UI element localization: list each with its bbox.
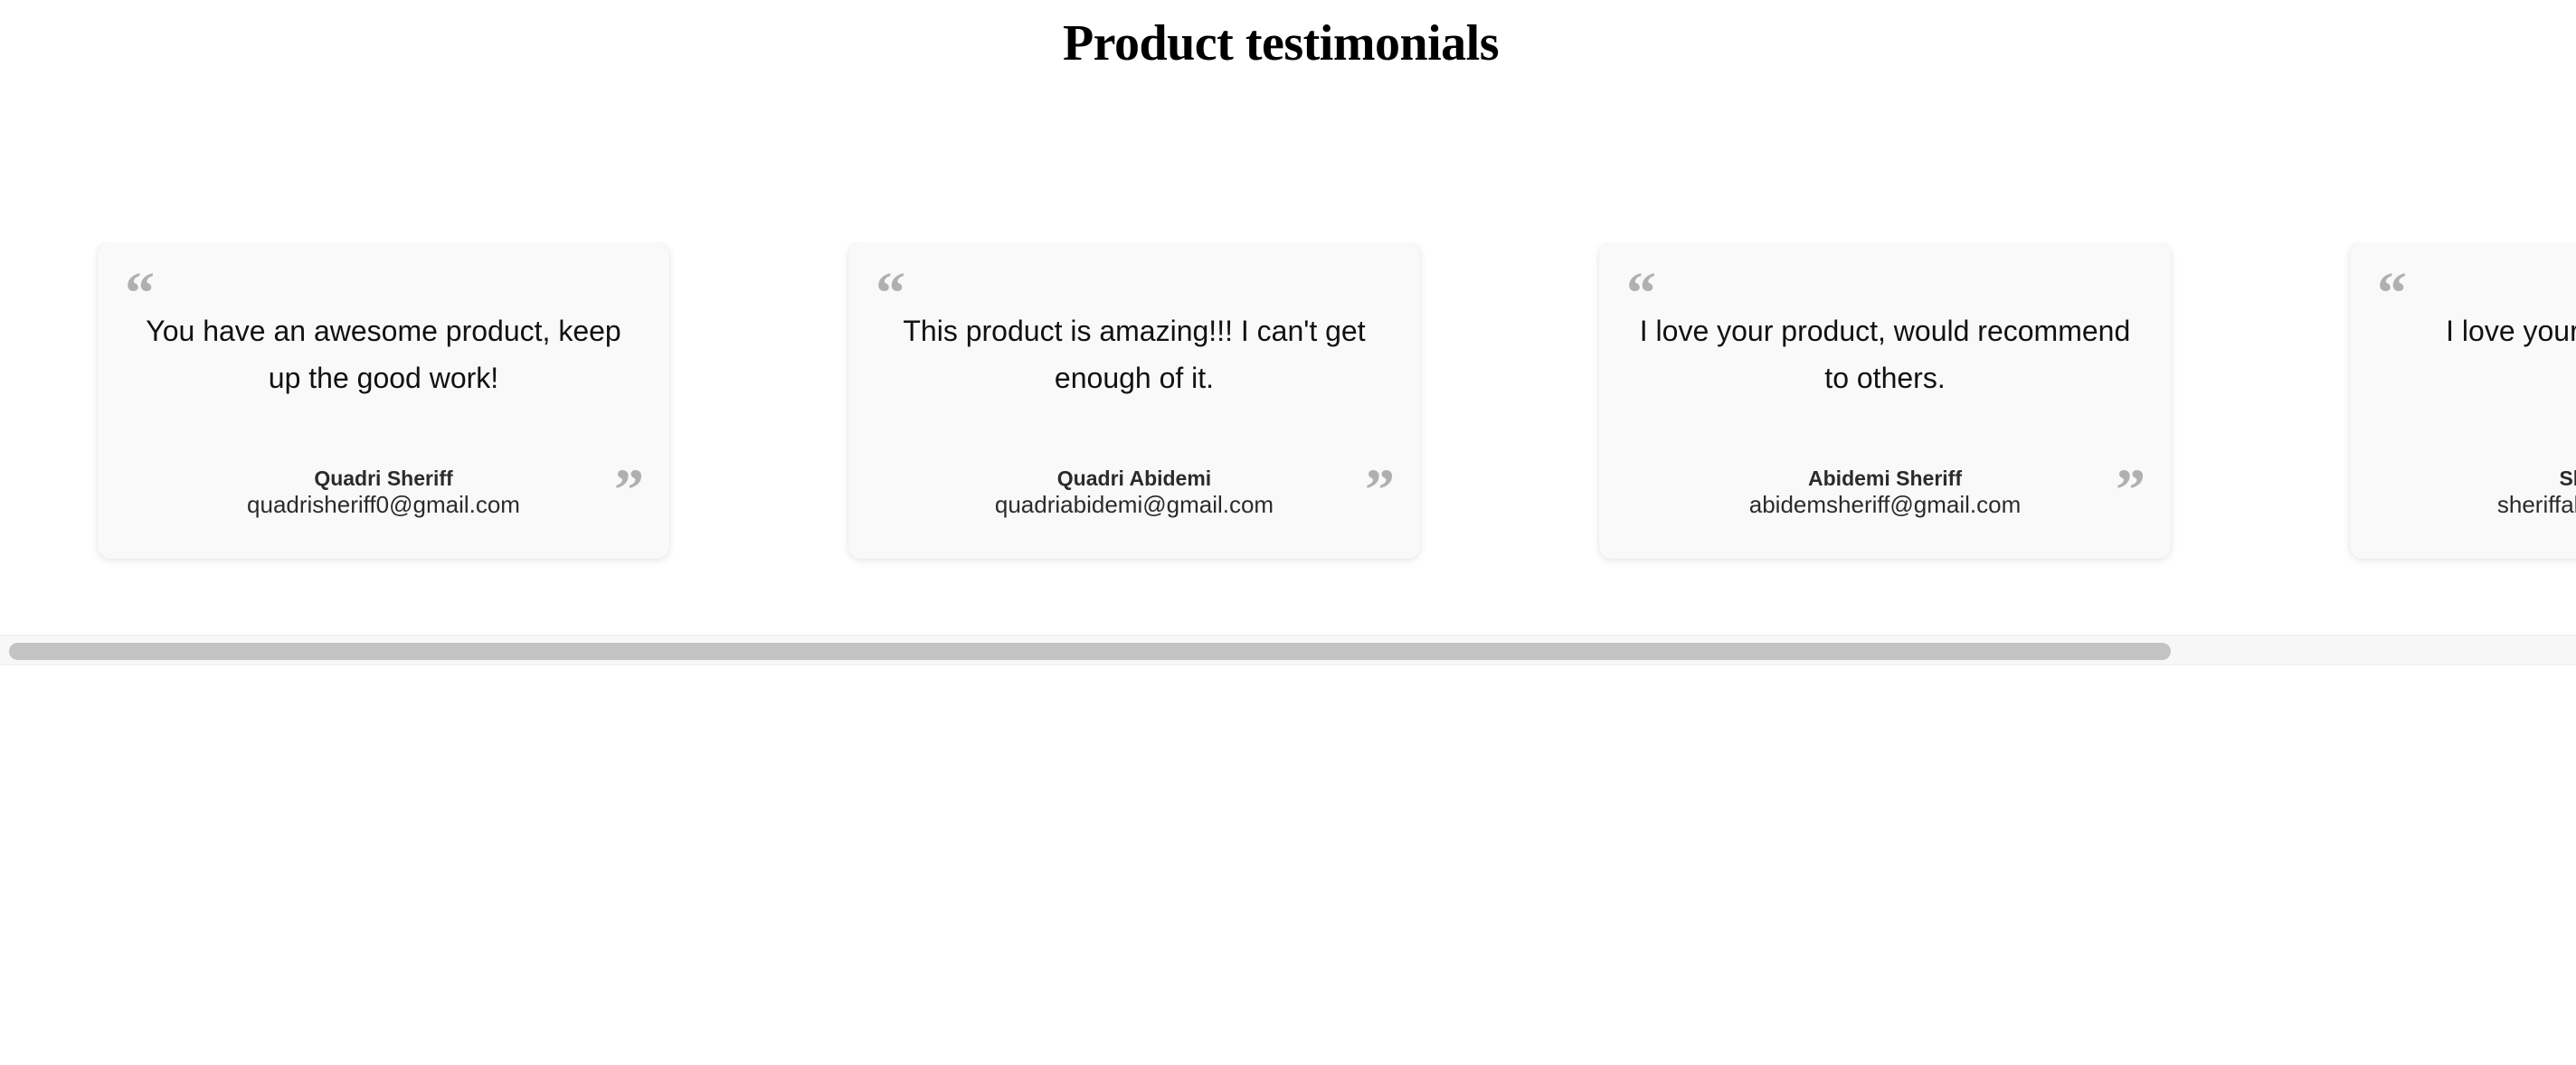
page-title: Product testimonials bbox=[0, 0, 2569, 71]
testimonial-card[interactable]: “ This product is amazing!!! I can't get… bbox=[848, 242, 1420, 559]
testimonial-card[interactable]: “ I love your product, it is great. ” Sh… bbox=[2350, 242, 2576, 559]
author-name: Sheriff Abidemi bbox=[2350, 467, 2576, 491]
horizontal-scrollbar[interactable] bbox=[0, 633, 2576, 667]
scrollbar-track[interactable] bbox=[0, 635, 2576, 665]
testimonial-card[interactable]: “ I love your product, would recommend t… bbox=[1599, 242, 2171, 559]
author-email: quadrisheriff0@gmail.com bbox=[98, 491, 669, 518]
testimonial-quote: I love your product, would recommend to … bbox=[1630, 307, 2140, 401]
testimonial-author: Sheriff Abidemi sheriffabidemi@gmail.com bbox=[2350, 467, 2576, 518]
author-email: sheriffabidemi@gmail.com bbox=[2350, 491, 2576, 518]
testimonial-quote: This product is amazing!!! I can't get e… bbox=[879, 307, 1389, 401]
author-name: Abidemi Sheriff bbox=[1599, 467, 2171, 491]
author-email: quadriabidemi@gmail.com bbox=[848, 491, 1420, 518]
testimonial-card[interactable]: “ You have an awesome product, keep up t… bbox=[98, 242, 669, 559]
testimonial-quote: I love your product, it is great. bbox=[2381, 307, 2576, 354]
scrollbar-thumb[interactable] bbox=[9, 643, 2171, 660]
author-name: Quadri Abidemi bbox=[848, 467, 1420, 491]
testimonial-author: Quadri Abidemi quadriabidemi@gmail.com bbox=[848, 467, 1420, 518]
testimonial-author: Abidemi Sheriff abidemsheriff@gmail.com bbox=[1599, 467, 2171, 518]
author-name: Quadri Sheriff bbox=[98, 467, 669, 491]
testimonial-author: Quadri Sheriff quadrisheriff0@gmail.com bbox=[98, 467, 669, 518]
testimonial-quote: You have an awesome product, keep up the… bbox=[128, 307, 639, 401]
author-email: abidemsheriff@gmail.com bbox=[1599, 491, 2171, 518]
testimonial-track: “ You have an awesome product, keep up t… bbox=[0, 242, 2576, 559]
testimonial-carousel[interactable]: “ You have an awesome product, keep up t… bbox=[0, 242, 2576, 568]
